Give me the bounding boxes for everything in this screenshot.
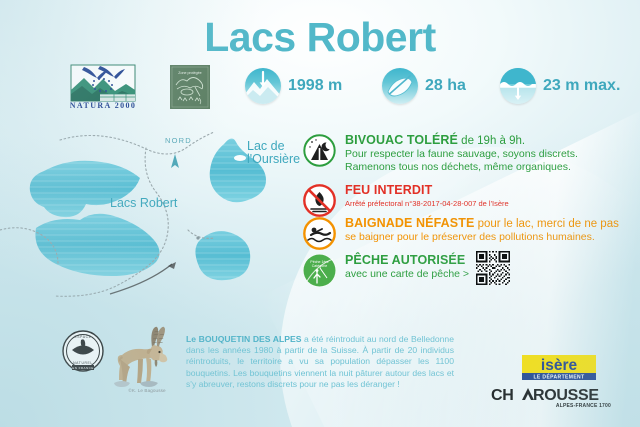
stamp-line-3: EN FRANCE <box>72 366 93 370</box>
natura-2000-logo: NATURA 2000 <box>70 64 136 110</box>
bouquetin-paragraph: Le BOUQUETIN DES ALPES a été réintroduit… <box>186 334 454 390</box>
rule-fishing: Pêche 1ère Catégorie PÊCHE AUTORISÉE ave… <box>300 254 640 281</box>
fishing-icon: Pêche 1ère Catégorie <box>303 254 336 287</box>
qr-code-icon[interactable] <box>476 251 510 285</box>
rule-bivouac-title-suffix: de 19h à 9h. <box>458 135 525 147</box>
stat-area: 28 ha <box>382 68 466 104</box>
map-label-lacs-robert: Lacs Robert <box>110 196 177 210</box>
map-label-lac-oursiere-line2: l'Oursière <box>247 153 300 166</box>
rule-no-fire-fine-print: Arrêté préfectoral n°38-2017-04-28-007 d… <box>345 198 640 209</box>
map-marker <box>196 236 199 239</box>
rule-no-swimming-title-suffix: pour le lac, merci de ne pas <box>474 218 618 230</box>
chamrousse-logo-text: CH <box>491 387 514 404</box>
rule-bivouac-line-1: Pour respecter la faune sauvage, soyons … <box>345 148 640 161</box>
depth-value: 23 m max. <box>543 77 620 95</box>
rule-no-swimming-line-1: se baigner pour le préserver des polluti… <box>345 231 640 244</box>
fishing-badge-text-2: Catégorie <box>312 264 328 268</box>
stamp-line-1: ESPACE <box>74 335 91 339</box>
rule-bivouac-head: BIVOUAC TOLÉRÉ de 19h à 9h. <box>345 134 640 148</box>
map-label-lac-oursiere: Lac de l'Oursière <box>247 140 300 166</box>
chamrousse-logo-sub: ALPES-FRANCE 1700 <box>556 403 611 409</box>
stamp-line-2: NATUREL <box>73 361 93 365</box>
natura-2000-label: NATURA 2000 <box>70 101 136 110</box>
altitude-value: 1998 m <box>288 77 342 95</box>
rule-no-swimming-title: BAIGNADE NÉFASTE <box>345 216 474 230</box>
ibex-caption: ©K. Le Bagousse <box>112 388 182 393</box>
rule-no-fire-head: FEU INTERDIT <box>345 184 640 198</box>
rule-bivouac-title: BIVOUAC TOLÉRÉ <box>345 133 458 147</box>
no-fire-icon <box>303 184 336 217</box>
rule-no-swimming-head: BAIGNADE NÉFASTE pour le lac, merci de n… <box>345 217 640 231</box>
rules-list: BIVOUAC TOLÉRÉ de 19h à 9h. Pour respect… <box>300 134 640 285</box>
bouquetin-lead: Le BOUQUETIN DES ALPES <box>186 334 301 344</box>
isere-logo-text: isère <box>541 357 578 374</box>
page-title: Lacs Robert <box>0 14 640 61</box>
ibex-illustration <box>110 325 182 391</box>
no-swimming-icon <box>303 217 336 250</box>
rule-bivouac-line-2: Ramenons tous nos déchets, même organiqu… <box>345 161 640 174</box>
stat-altitude: 1998 m <box>245 68 342 104</box>
isere-logo-sub: LE DÉPARTEMENT <box>533 373 584 380</box>
header-stats-bar: NATURA 2000 Zone protégée <box>0 62 640 114</box>
chamrousse-logo: CH ROUSSE ALPES-FRANCE 1700 <box>489 385 613 409</box>
area-value: 28 ha <box>425 77 466 95</box>
info-panel: Lacs Robert NATURA 2000 Zon <box>0 0 640 427</box>
depth-icon <box>500 68 536 104</box>
area-icon <box>382 68 418 104</box>
compass-label: NORD <box>165 136 192 145</box>
espace-naturel-sensible-stamp: ESPACE NATUREL EN FRANCE <box>60 330 106 374</box>
lake-map: NORD Lacs Robert Lac de l'Oursière <box>0 118 300 323</box>
rule-no-fire: FEU INTERDIT Arrêté préfectoral n°38-201… <box>300 184 640 209</box>
rule-no-fire-title: FEU INTERDIT <box>345 183 432 197</box>
rule-fishing-title: PÊCHE AUTORISÉE <box>345 253 465 267</box>
rule-no-swimming: BAIGNADE NÉFASTE pour le lac, merci de n… <box>300 217 640 244</box>
isere-logo: isère LE DÉPARTEMENT <box>522 355 596 380</box>
stat-depth: 23 m max. <box>500 68 620 104</box>
chamrousse-logo-text-2: ROUSSE <box>533 387 599 404</box>
altitude-icon <box>245 68 281 104</box>
tent-moon-icon <box>303 134 336 167</box>
zone-protegee-logo: Zone protégée <box>170 65 210 109</box>
compass-arrow-icon <box>171 154 179 168</box>
zone-protegee-label: Zone protégée <box>178 71 201 75</box>
rule-bivouac: BIVOUAC TOLÉRÉ de 19h à 9h. Pour respect… <box>300 134 640 174</box>
